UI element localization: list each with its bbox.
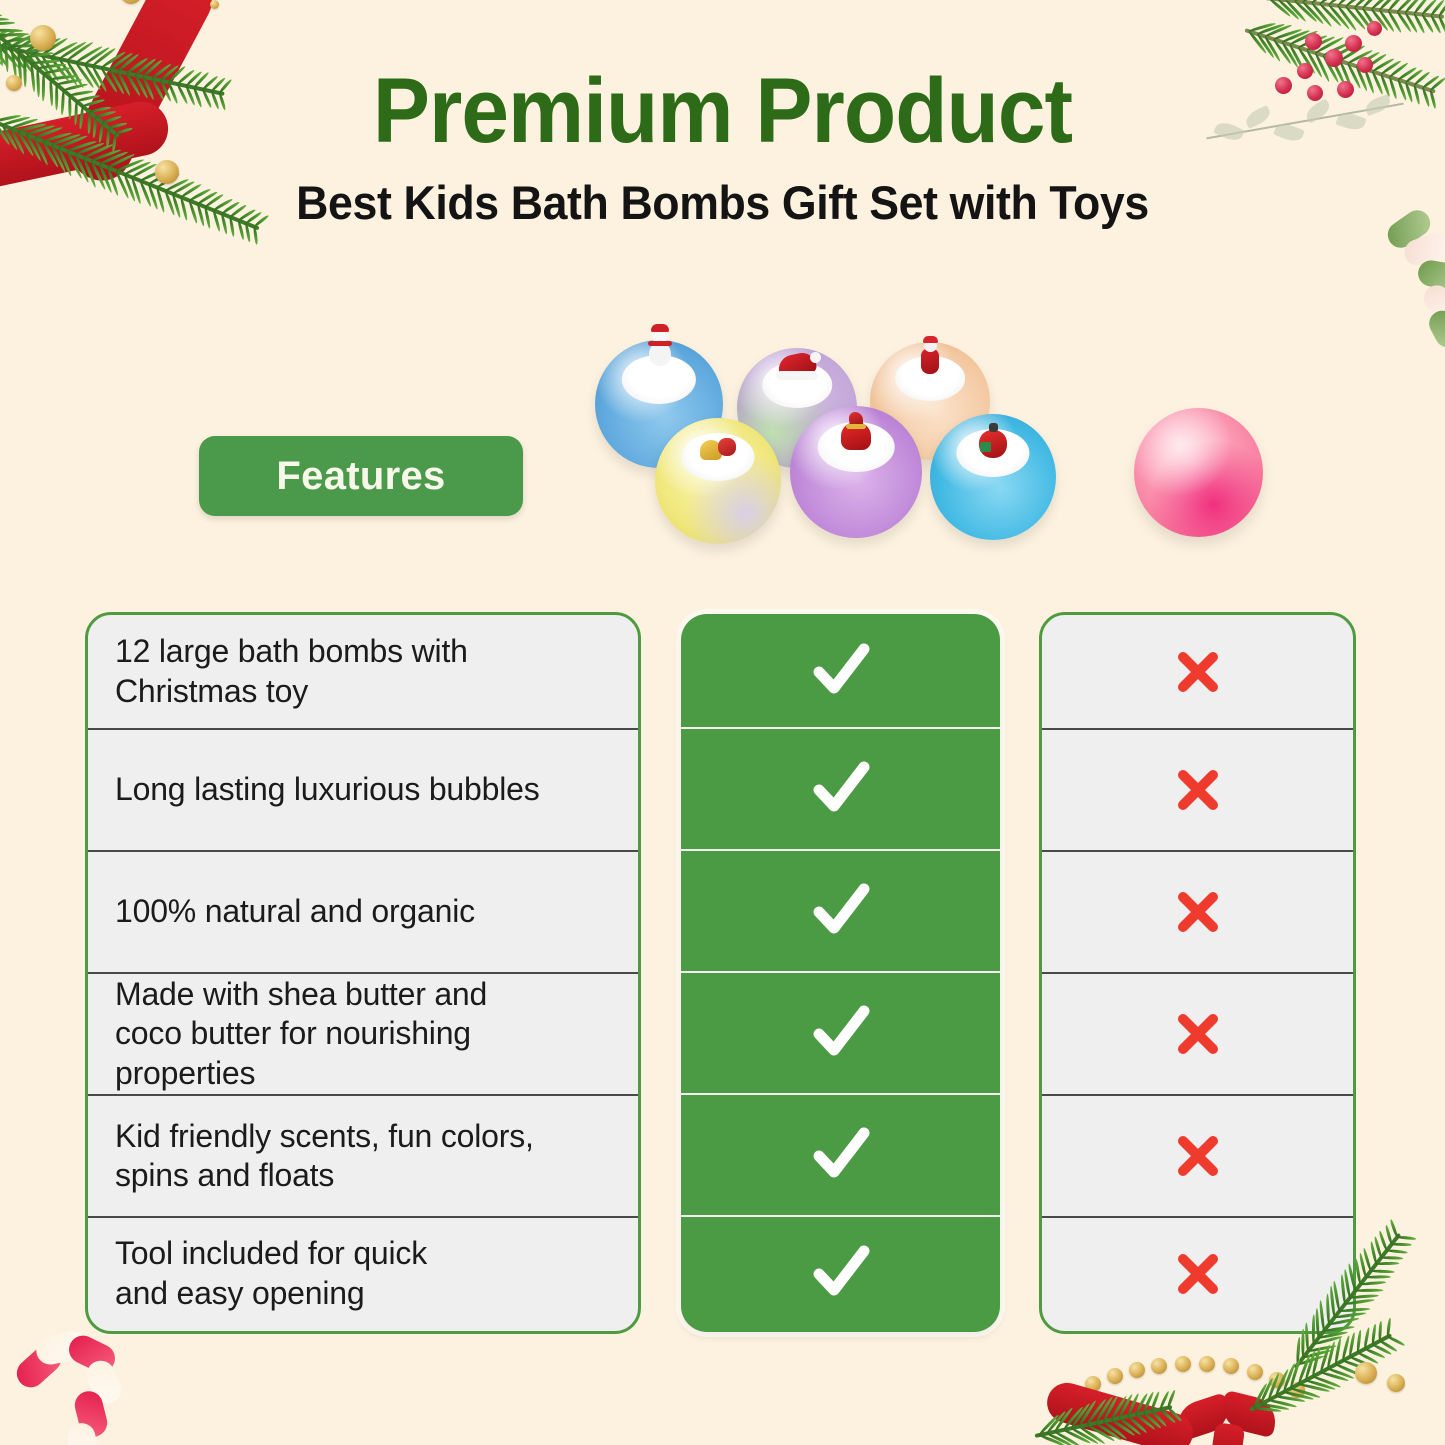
feature-label: Long lasting luxurious bubbles bbox=[115, 770, 540, 809]
cross-icon bbox=[1173, 1131, 1223, 1181]
table-row: Kid friendly scents, fun colors,spins an… bbox=[88, 1094, 638, 1216]
check-icon bbox=[810, 883, 872, 939]
cross-icon bbox=[1173, 1249, 1223, 1299]
check-icon bbox=[810, 1127, 872, 1183]
cross-icon bbox=[1173, 647, 1223, 697]
table-cell-cross bbox=[1042, 728, 1353, 850]
check-icon bbox=[810, 761, 872, 817]
cross-icon bbox=[1173, 765, 1223, 815]
table-row: Tool included for quickand easy opening bbox=[88, 1216, 638, 1329]
table-cell-cross bbox=[1042, 850, 1353, 972]
table-cell-check bbox=[681, 1093, 1000, 1215]
infographic-page: Premium Product Best Kids Bath Bombs Gif… bbox=[0, 0, 1445, 1445]
table-row: Long lasting luxurious bubbles bbox=[88, 728, 638, 850]
table-row: Made with shea butter andcoco butter for… bbox=[88, 972, 638, 1094]
check-icon bbox=[810, 1245, 872, 1301]
feature-label: 100% natural and organic bbox=[115, 892, 475, 931]
table-cell-check bbox=[681, 727, 1000, 849]
table-row: 100% natural and organic bbox=[88, 850, 638, 972]
feature-label: Made with shea butter andcoco butter for… bbox=[115, 975, 487, 1093]
check-icon bbox=[810, 643, 872, 699]
cross-icon bbox=[1173, 1009, 1223, 1059]
table-cell-cross bbox=[1042, 1216, 1353, 1329]
check-icon bbox=[810, 1005, 872, 1061]
table-cell-check bbox=[681, 971, 1000, 1093]
feature-label: 12 large bath bombs withChristmas toy bbox=[115, 632, 468, 711]
feature-label: Tool included for quickand easy opening bbox=[115, 1234, 427, 1313]
table-cell-cross bbox=[1042, 615, 1353, 728]
table-cell-cross bbox=[1042, 1094, 1353, 1216]
our-product-column bbox=[681, 614, 1000, 1332]
competitor-column bbox=[1039, 612, 1356, 1334]
comparison-table: 12 large bath bombs withChristmas toy Lo… bbox=[0, 0, 1445, 1445]
table-cell-cross bbox=[1042, 972, 1353, 1094]
table-cell-check bbox=[681, 1215, 1000, 1328]
cross-icon bbox=[1173, 887, 1223, 937]
table-cell-check bbox=[681, 614, 1000, 727]
feature-text-column: 12 large bath bombs withChristmas toy Lo… bbox=[85, 612, 641, 1334]
feature-label: Kid friendly scents, fun colors,spins an… bbox=[115, 1117, 534, 1196]
table-row: 12 large bath bombs withChristmas toy bbox=[88, 615, 638, 728]
table-cell-check bbox=[681, 849, 1000, 971]
